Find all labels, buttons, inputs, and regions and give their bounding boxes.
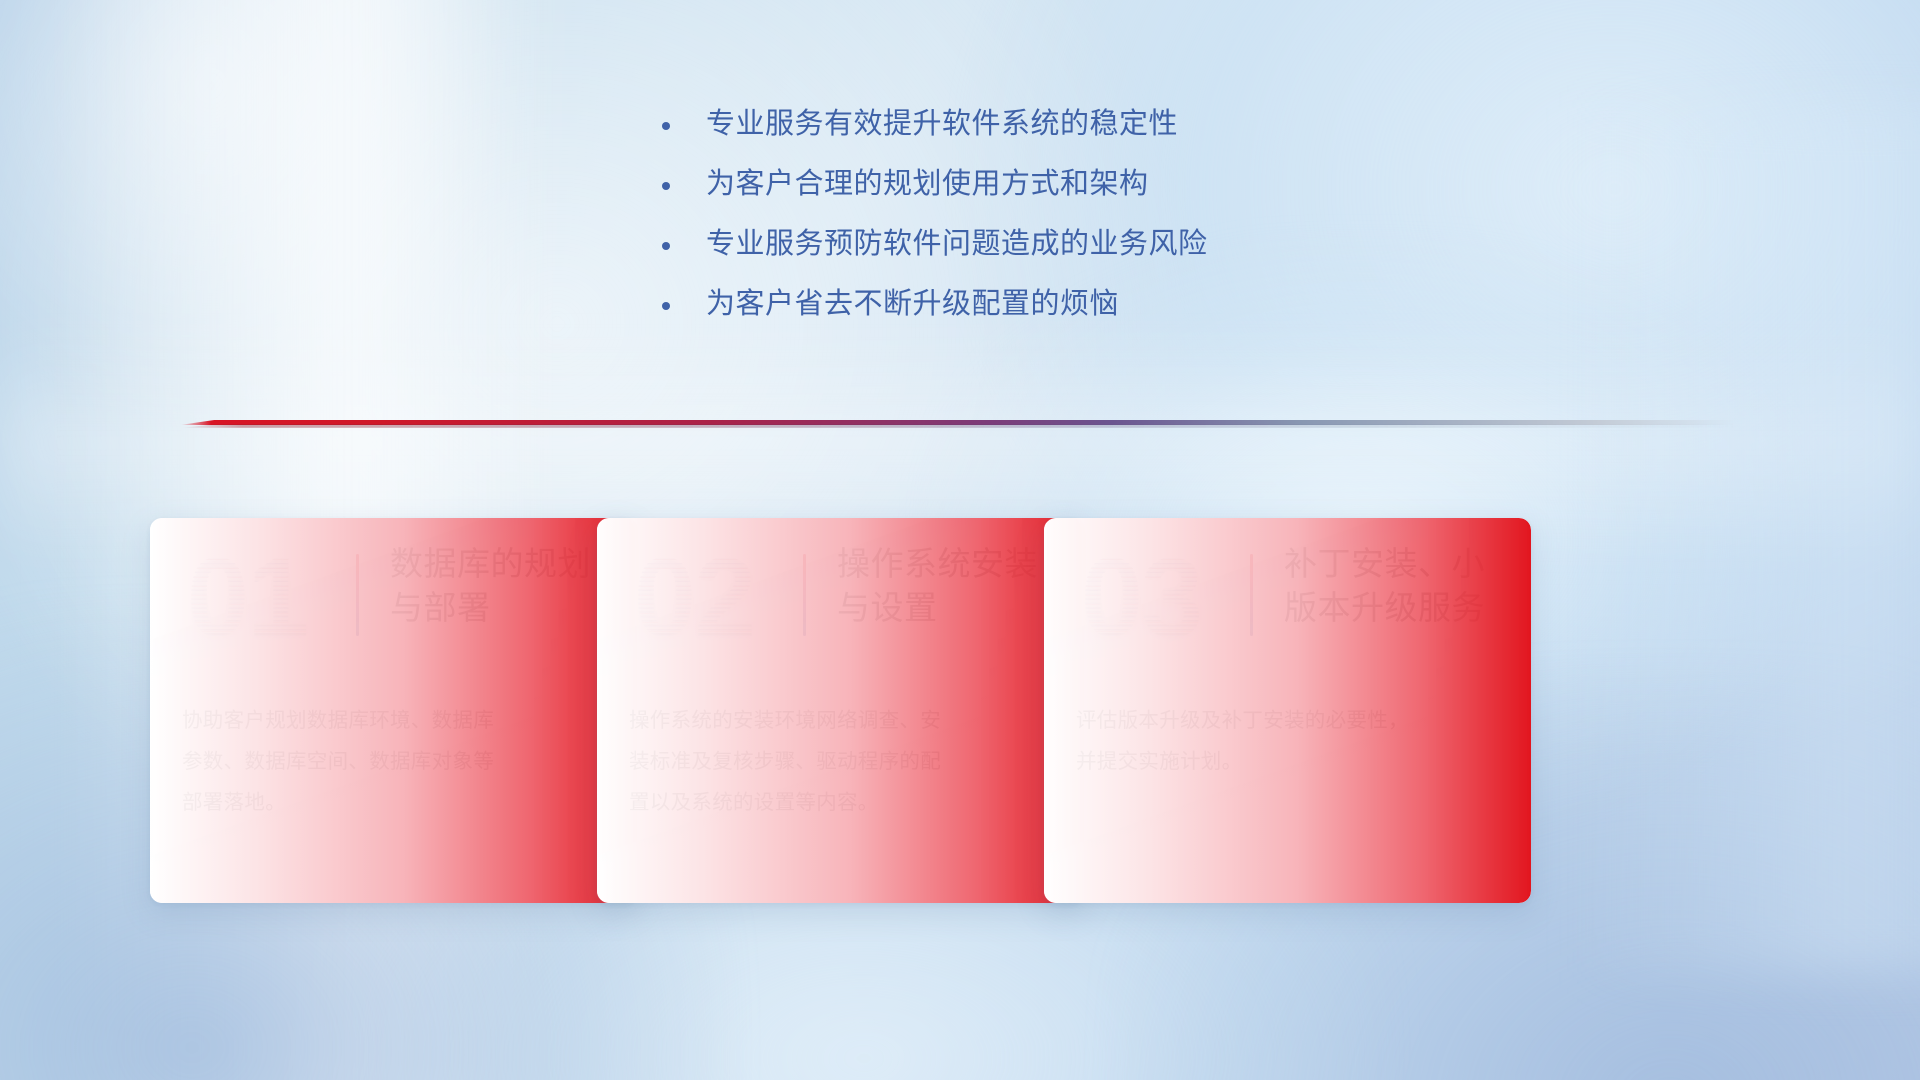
list-item: 为客户省去不断升级配置的烦恼 xyxy=(662,290,1208,319)
card-header: 02 02 操作系统安装 与设置 xyxy=(597,526,1084,681)
card-description-line-2: 并提交实施计划。 xyxy=(1076,741,1494,782)
card-description: 协助客户规划数据库环境、数据库 参数、数据库空间、数据库对象等 部署落地。 xyxy=(182,700,600,823)
service-card-03[interactable]: 03 03 补丁安装、小 版本升级服务 评估版本升级及补丁安装的必要性， 并提交… xyxy=(1044,518,1531,903)
service-card-01[interactable]: 01 01 数据库的规划 与部署 协助客户规划数据库环境、数据库 参数、数据库空… xyxy=(150,518,637,903)
card-description-line-2: 参数、数据库空间、数据库对象等 xyxy=(182,741,600,782)
bullet-text: 为客户合理的规划使用方式和架构 xyxy=(706,170,1149,199)
card-description: 评估版本升级及补丁安装的必要性， 并提交实施计划。 xyxy=(1076,700,1494,782)
card-description-line-2: 装标准及复核步骤、驱动程序的配 xyxy=(629,741,1047,782)
card-title: 数据库的规划 与部署 xyxy=(390,542,618,630)
card-description-line-1: 评估版本升级及补丁安装的必要性， xyxy=(1076,700,1494,741)
list-item: 专业服务预防软件问题造成的业务风险 xyxy=(662,230,1208,259)
card-header: 01 01 数据库的规划 与部署 xyxy=(150,526,637,681)
service-card-02[interactable]: 02 02 操作系统安装 与设置 操作系统的安装环境网络调查、安 装标准及复核步… xyxy=(597,518,1084,903)
card-title-line-1: 操作系统安装 xyxy=(837,542,1065,586)
bullet-text: 专业服务预防软件问题造成的业务风险 xyxy=(706,230,1208,259)
bullet-text: 专业服务有效提升软件系统的稳定性 xyxy=(706,110,1178,139)
list-item: 为客户合理的规划使用方式和架构 xyxy=(662,170,1208,199)
bullet-dot-icon xyxy=(662,242,670,250)
bullet-dot-icon xyxy=(662,302,670,310)
card-description-line-3: 置以及系统的设置等内容。 xyxy=(629,782,1047,823)
divider-shadow xyxy=(180,424,1735,428)
card-description-line-1: 操作系统的安装环境网络调查、安 xyxy=(629,700,1047,741)
card-accent-bar xyxy=(356,554,359,636)
card-title: 操作系统安装 与设置 xyxy=(837,542,1065,630)
card-title-line-1: 数据库的规划 xyxy=(390,542,618,586)
service-card-group: 01 01 数据库的规划 与部署 协助客户规划数据库环境、数据库 参数、数据库空… xyxy=(0,518,1920,938)
card-description-line-3: 部署落地。 xyxy=(182,782,600,823)
bullet-dot-icon xyxy=(662,182,670,190)
card-number-watermark: 03 xyxy=(1066,532,1216,664)
bullet-dot-icon xyxy=(662,122,670,130)
card-header: 03 03 补丁安装、小 版本升级服务 xyxy=(1044,526,1531,681)
card-title: 补丁安装、小 版本升级服务 xyxy=(1284,542,1512,630)
card-number-watermark: 02 xyxy=(619,532,769,664)
card-title-line-2: 与设置 xyxy=(837,586,1065,630)
card-description-line-1: 协助客户规划数据库环境、数据库 xyxy=(182,700,600,741)
card-title-line-2: 版本升级服务 xyxy=(1284,586,1512,630)
bullet-text: 为客户省去不断升级配置的烦恼 xyxy=(706,290,1119,319)
card-title-line-2: 与部署 xyxy=(390,586,618,630)
list-item: 专业服务有效提升软件系统的稳定性 xyxy=(662,110,1208,139)
card-accent-bar xyxy=(803,554,806,636)
section-divider xyxy=(180,420,1735,432)
benefits-bullet-list: 专业服务有效提升软件系统的稳定性 为客户合理的规划使用方式和架构 专业服务预防软… xyxy=(662,110,1208,350)
card-title-line-1: 补丁安装、小 xyxy=(1284,542,1512,586)
card-description: 操作系统的安装环境网络调查、安 装标准及复核步骤、驱动程序的配 置以及系统的设置… xyxy=(629,700,1047,823)
card-accent-bar xyxy=(1250,554,1253,636)
card-number-watermark: 01 xyxy=(172,532,322,664)
